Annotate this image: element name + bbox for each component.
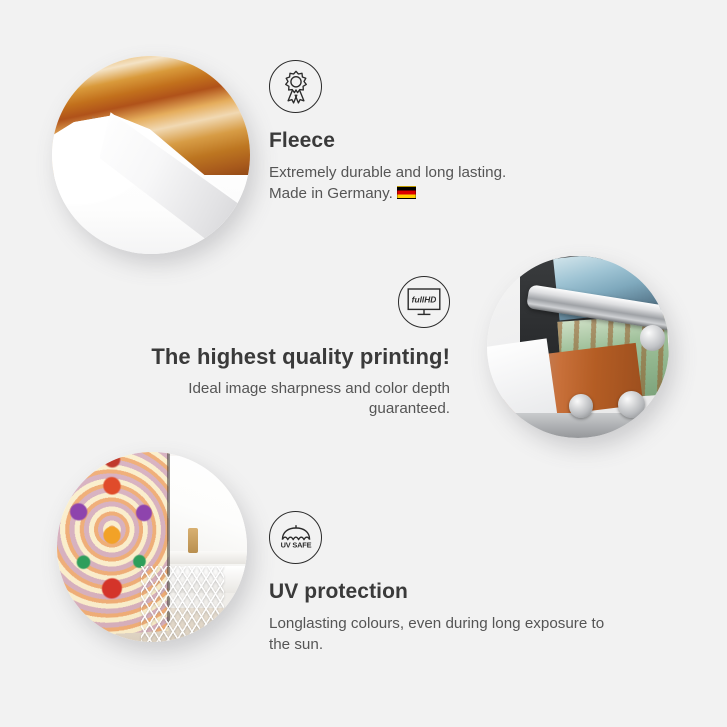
mandala-wallpaper-room-photo bbox=[57, 452, 247, 642]
feature-description: Longlasting colours, even during long ex… bbox=[269, 614, 679, 655]
product-features-infographic: Fleece Extremely durable and long lastin… bbox=[0, 0, 727, 727]
feature-title: UV protection bbox=[269, 579, 679, 605]
peeling-wallpaper-photo bbox=[52, 56, 250, 254]
uv-safe-label: UV SAFE bbox=[280, 540, 311, 549]
feature-title: Fleece bbox=[269, 128, 669, 154]
printing-press-photo bbox=[487, 256, 669, 438]
feature-fleece: Fleece Extremely durable and long lastin… bbox=[269, 60, 669, 204]
award-ribbon-icon bbox=[269, 60, 322, 113]
feature-line-1: Ideal image sharpness and color depth bbox=[188, 380, 450, 397]
feature-description: Extremely durable and long lasting. Made… bbox=[269, 163, 669, 204]
feature-line-1: Longlasting colours, even during long ex… bbox=[269, 615, 604, 632]
german-flag-icon bbox=[397, 186, 416, 199]
uv-safe-umbrella-icon: UV SAFE bbox=[269, 511, 322, 564]
feature-description: Ideal image sharpness and color depth gu… bbox=[30, 379, 450, 420]
feature-line-2: the sun. bbox=[269, 636, 323, 653]
fullhd-monitor-icon: fullHD bbox=[398, 276, 450, 328]
feature-line-2: Made in Germany. bbox=[269, 185, 393, 202]
feature-line-2: guaranteed. bbox=[369, 400, 450, 417]
fullhd-label: fullHD bbox=[412, 294, 437, 304]
feature-title: The highest quality printing! bbox=[30, 343, 450, 371]
feature-uv-protection: UV SAFE UV protection Longlasting colour… bbox=[269, 511, 679, 655]
feature-line-1: Extremely durable and long lasting. bbox=[269, 164, 506, 181]
feature-printing: fullHD The highest quality printing! Ide… bbox=[30, 276, 450, 420]
